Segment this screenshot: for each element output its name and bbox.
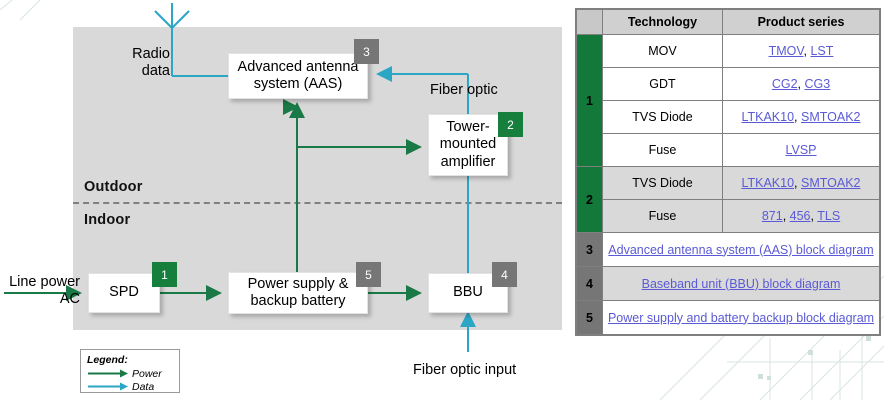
technology-cell: TVS Diode <box>603 101 723 134</box>
product-link[interactable]: CG3 <box>804 77 830 91</box>
annotation-fiber-optic-input: Fiber optic input <box>413 362 516 379</box>
block-diagram-cell: Advanced antenna system (AAS) block diag… <box>603 233 880 267</box>
table-row: 2 TVS Diode LTKAK10, SMTOAK2 <box>577 167 880 200</box>
block-spd[interactable]: SPD <box>88 273 160 313</box>
table-row: Fuse LVSP <box>577 134 880 167</box>
product-link[interactable]: 871 <box>762 209 783 223</box>
legend-power-label: Power <box>132 368 162 380</box>
product-series-cell: 871, 456, TLS <box>723 200 880 233</box>
technology-cell: GDT <box>603 68 723 101</box>
product-link[interactable]: LTKAK10 <box>741 110 794 124</box>
block-tower-mounted-amplifier[interactable]: Tower-mounted amplifier <box>428 114 508 176</box>
block-diagram-cell: Power supply and battery backup block di… <box>603 301 880 335</box>
diagram-badge-1[interactable]: 1 <box>152 262 177 287</box>
legend-title: Legend: <box>87 354 179 366</box>
block-diagram-link[interactable]: Power supply and battery backup block di… <box>608 311 874 325</box>
technology-cell: Fuse <box>603 200 723 233</box>
header-number <box>577 10 603 35</box>
group-number-1: 1 <box>577 35 603 167</box>
product-link[interactable]: SMTOAK2 <box>801 176 861 190</box>
table-row: 3 Advanced antenna system (AAS) block di… <box>577 233 880 267</box>
product-link[interactable]: LVSP <box>785 143 816 157</box>
header-product-series: Product series <box>723 10 880 35</box>
diagram-badge-3[interactable]: 3 <box>354 39 379 64</box>
technology-cell: MOV <box>603 35 723 68</box>
block-diagram-link[interactable]: Advanced antenna system (AAS) block diag… <box>608 243 873 257</box>
group-number-4: 4 <box>577 267 603 301</box>
table-row: Fuse 871, 456, TLS <box>577 200 880 233</box>
annotation-fiber-optic: Fiber optic <box>430 82 498 99</box>
product-link[interactable]: SMTOAK2 <box>801 110 861 124</box>
block-advanced-antenna-system[interactable]: Advanced antenna system (AAS) <box>228 53 368 99</box>
product-link[interactable]: TMOV <box>769 44 804 58</box>
product-series-cell: CG2, CG3 <box>723 68 880 101</box>
technology-cell: Fuse <box>603 134 723 167</box>
reference-table-panel: Technology Product series 1 MOV TMOV, LS… <box>575 8 881 336</box>
legend-data-label: Data <box>132 381 154 393</box>
block-power-supply-backup-battery[interactable]: Power supply & backup battery <box>228 272 368 314</box>
network-block-diagram: Outdoor Indoor <box>0 0 570 400</box>
group-number-5: 5 <box>577 301 603 335</box>
header-technology: Technology <box>603 10 723 35</box>
table-row: 1 MOV TMOV, LST <box>577 35 880 68</box>
annotation-line-power-ac: Line power AC <box>4 274 80 309</box>
legend-power-arrow-icon <box>87 368 129 379</box>
table-row: 4 Baseband unit (BBU) block diagram <box>577 267 880 301</box>
group-number-2: 2 <box>577 167 603 233</box>
product-series-cell: LTKAK10, SMTOAK2 <box>723 101 880 134</box>
product-series-cell: LTKAK10, SMTOAK2 <box>723 167 880 200</box>
table-row: TVS Diode LTKAK10, SMTOAK2 <box>577 101 880 134</box>
product-link[interactable]: CG2 <box>772 77 798 91</box>
product-link[interactable]: LST <box>810 44 833 58</box>
product-link[interactable]: TLS <box>817 209 840 223</box>
product-link[interactable]: 456 <box>790 209 811 223</box>
technology-cell: TVS Diode <box>603 167 723 200</box>
legend-box: Legend: Power Data <box>80 349 180 393</box>
reference-table: Technology Product series 1 MOV TMOV, LS… <box>576 9 880 335</box>
table-row: 5 Power supply and battery backup block … <box>577 301 880 335</box>
annotation-radio-data: Radio data <box>124 46 170 81</box>
diagram-badge-2[interactable]: 2 <box>498 112 523 137</box>
group-number-3: 3 <box>577 233 603 267</box>
legend-row-data: Data <box>87 380 179 393</box>
diagram-badge-4[interactable]: 4 <box>492 262 517 287</box>
diagram-badge-5[interactable]: 5 <box>356 262 381 287</box>
legend-data-arrow-icon <box>87 381 129 392</box>
block-diagram-link[interactable]: Baseband unit (BBU) block diagram <box>642 277 841 291</box>
table-header-row: Technology Product series <box>577 10 880 35</box>
table-row: GDT CG2, CG3 <box>577 68 880 101</box>
legend-row-power: Power <box>87 367 179 380</box>
product-series-cell: LVSP <box>723 134 880 167</box>
product-link[interactable]: LTKAK10 <box>741 176 794 190</box>
product-series-cell: TMOV, LST <box>723 35 880 68</box>
block-diagram-cell: Baseband unit (BBU) block diagram <box>603 267 880 301</box>
